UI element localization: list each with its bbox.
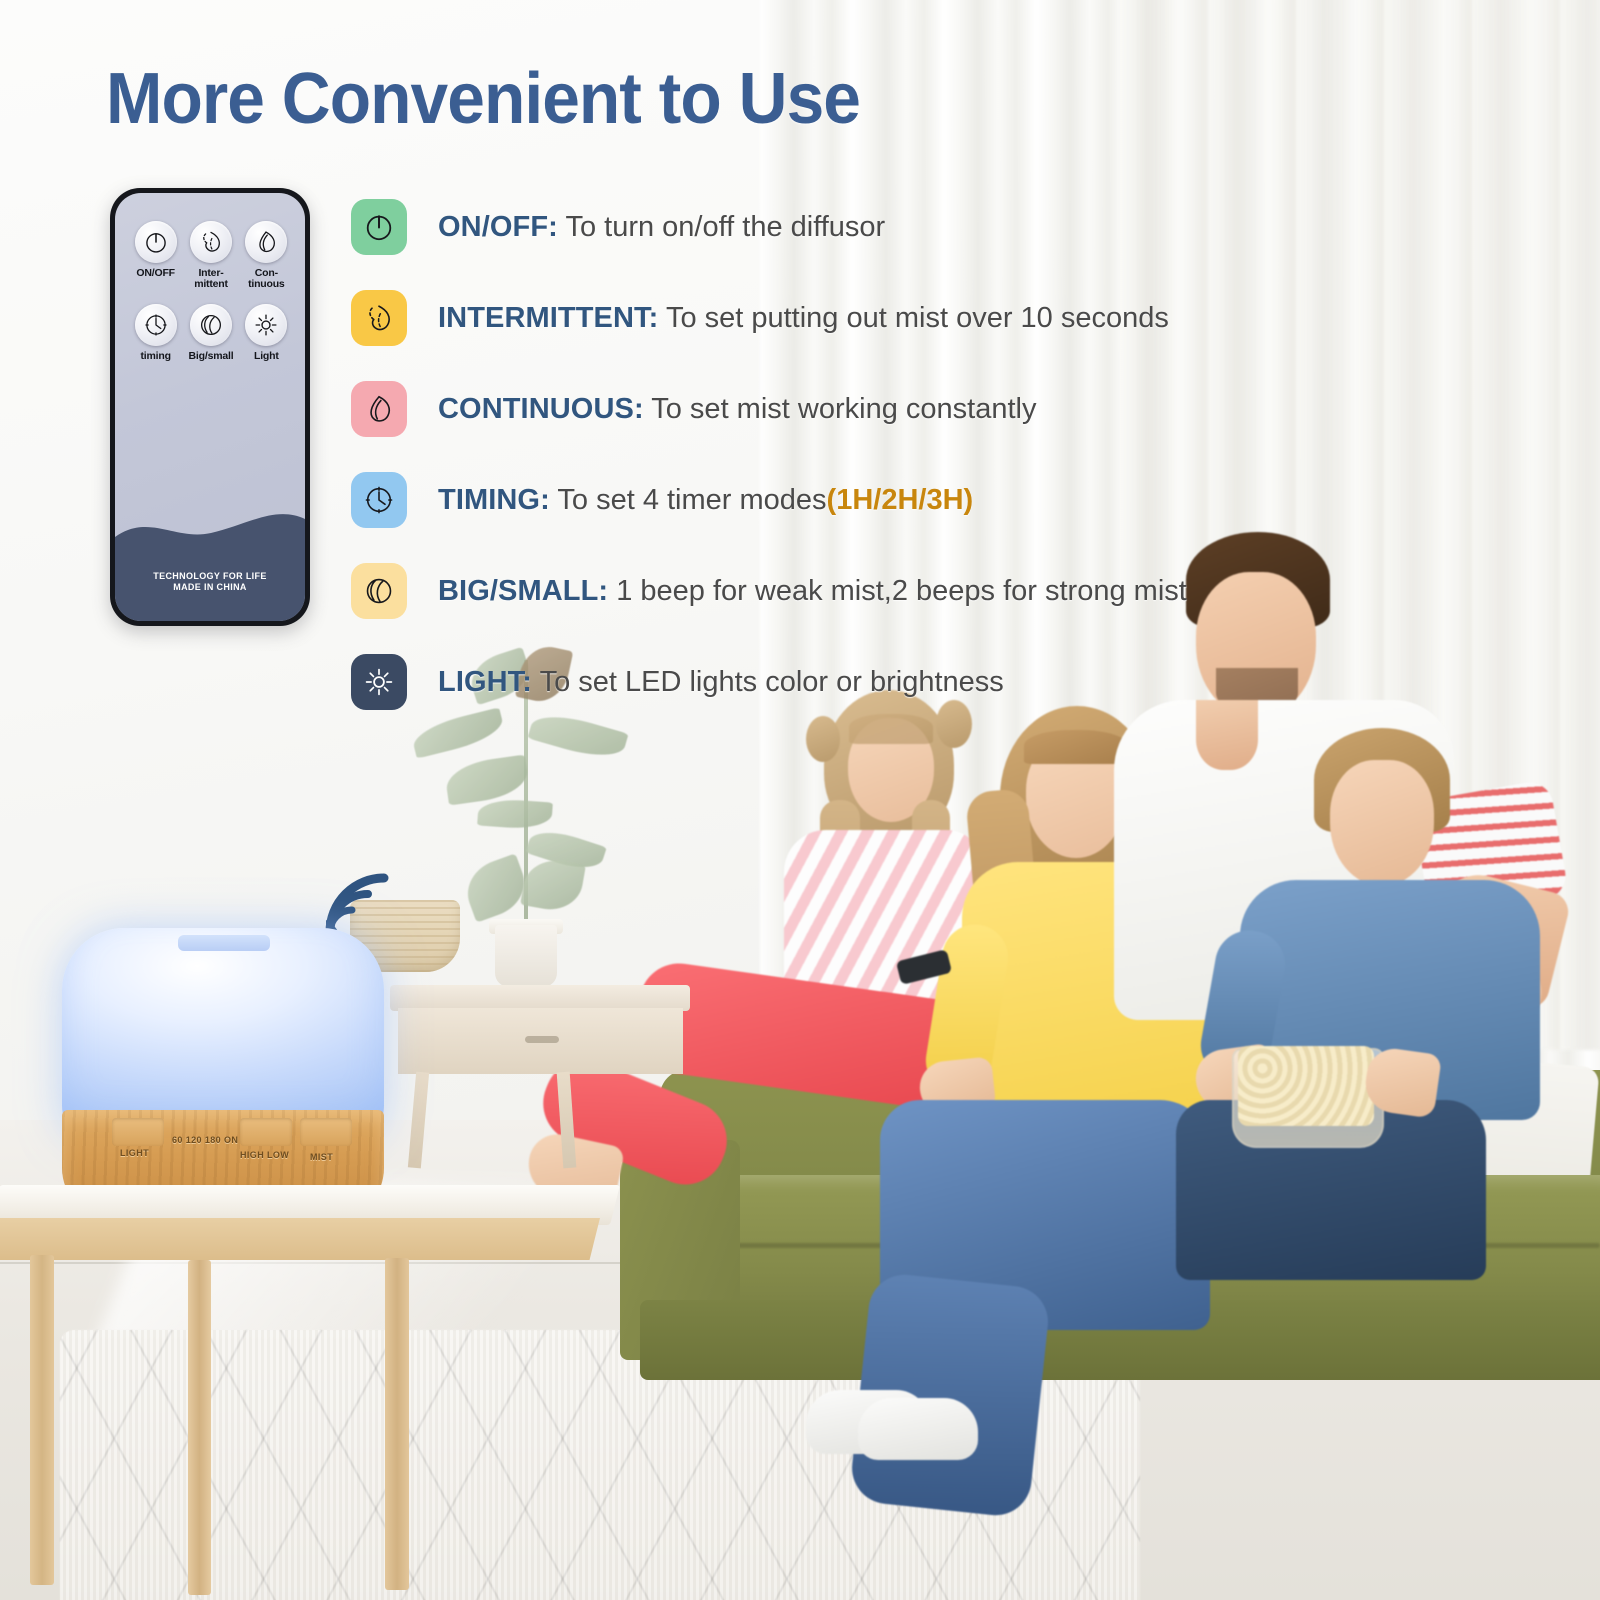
wifi-signal-icon bbox=[312, 862, 392, 938]
remote-button-bigsmall[interactable]: Big/small bbox=[184, 304, 237, 362]
side-table-apron bbox=[0, 1218, 600, 1260]
feature-desc: To set LED lights color or brightness bbox=[540, 666, 1004, 698]
power-icon bbox=[135, 221, 177, 263]
feature-list: ON/OFF: To turn on/off the diffusor INTE… bbox=[351, 196, 1561, 742]
remote-button-label: ON/OFF bbox=[136, 268, 174, 279]
diffuser-label-timer: 60 120 180 ON bbox=[172, 1135, 238, 1145]
double-leaf-icon bbox=[190, 304, 232, 346]
remote-button-timing[interactable]: timing bbox=[129, 304, 182, 362]
remote-button-label: Big/small bbox=[189, 351, 234, 362]
remote-button-onoff[interactable]: ON/OFF bbox=[129, 221, 182, 290]
plant-pot bbox=[495, 925, 557, 987]
feature-key: LIGHT: bbox=[438, 666, 532, 698]
power-icon bbox=[351, 199, 407, 255]
side-table-leg bbox=[188, 1260, 211, 1595]
feature-key: CONTINUOUS: bbox=[438, 393, 644, 425]
console-drawer-handle bbox=[525, 1036, 559, 1043]
intermittent-mist-icon bbox=[351, 290, 407, 346]
diffuser-dome bbox=[62, 928, 384, 1140]
remote-button-light[interactable]: Light bbox=[240, 304, 293, 362]
feature-row-timing: TIMING: To set 4 timer modes(1H/2H/3H) bbox=[351, 469, 1561, 531]
diffuser-light-button[interactable] bbox=[112, 1118, 164, 1146]
feature-row-intermittent: INTERMITTENT: To set putting out mist ov… bbox=[351, 287, 1561, 349]
sun-icon bbox=[245, 304, 287, 346]
feature-key: TIMING: bbox=[438, 484, 550, 516]
feature-desc: To set 4 timer modes bbox=[557, 484, 826, 516]
feature-desc: To turn on/off the diffusor bbox=[565, 211, 885, 243]
diffuser-label-mist-power: HIGH LOW bbox=[240, 1150, 289, 1160]
remote-brand-line-2: MADE IN CHINA bbox=[173, 582, 247, 592]
remote-footer-wave bbox=[115, 503, 305, 621]
feature-row-continuous: CONTINUOUS: To set mist working constant… bbox=[351, 378, 1561, 440]
feature-text: CONTINUOUS: To set mist working constant… bbox=[438, 393, 1036, 426]
remote-label-text: ON/OFF bbox=[136, 267, 174, 279]
feature-text: INTERMITTENT: To set putting out mist ov… bbox=[438, 302, 1169, 335]
feature-row-onoff: ON/OFF: To turn on/off the diffusor bbox=[351, 196, 1561, 258]
remote-button-label: timing bbox=[141, 351, 171, 362]
side-table-leg bbox=[385, 1258, 409, 1590]
diffuser-top-vent bbox=[178, 935, 270, 951]
continuous-mist-icon bbox=[245, 221, 287, 263]
feature-desc: To set putting out mist over 10 seconds bbox=[666, 302, 1169, 334]
feature-text: BIG/SMALL: 1 beep for weak mist,2 beeps … bbox=[438, 575, 1187, 608]
feature-desc: 1 beep for weak mist,2 beeps for strong … bbox=[616, 575, 1187, 607]
clock-icon bbox=[351, 472, 407, 528]
remote-brand-text: TECHNOLOGY FOR LIFE MADE IN CHINA bbox=[115, 571, 305, 594]
remote-button-label: Light bbox=[254, 351, 279, 362]
feature-text: TIMING: To set 4 timer modes(1H/2H/3H) bbox=[438, 484, 973, 517]
feature-text: LIGHT: To set LED lights color or bright… bbox=[438, 666, 1004, 699]
remote-brand-line-1: TECHNOLOGY FOR LIFE bbox=[153, 571, 267, 581]
side-table-leg bbox=[30, 1255, 54, 1585]
double-leaf-icon bbox=[351, 563, 407, 619]
remote-face: ON/OFF Inter- mittent bbox=[115, 193, 305, 621]
feature-key: BIG/SMALL: bbox=[438, 575, 608, 607]
intermittent-mist-icon bbox=[190, 221, 232, 263]
remote-label-text: timing bbox=[141, 350, 171, 362]
remote-button-grid: ON/OFF Inter- mittent bbox=[129, 221, 293, 362]
remote-label-text: Big/small bbox=[189, 350, 234, 362]
remote-label-text: Light bbox=[254, 350, 279, 362]
diffuser-label-light: LIGHT bbox=[120, 1148, 149, 1158]
sun-icon bbox=[351, 654, 407, 710]
feature-row-light: LIGHT: To set LED lights color or bright… bbox=[351, 651, 1561, 713]
diffuser-mist-button[interactable] bbox=[300, 1118, 352, 1146]
feature-key: INTERMITTENT: bbox=[438, 302, 658, 334]
feature-row-bigsmall: BIG/SMALL: 1 beep for weak mist,2 beeps … bbox=[351, 560, 1561, 622]
diffuser-label-mist: MIST bbox=[310, 1152, 333, 1162]
remote-label-text: mittent bbox=[194, 278, 228, 290]
infographic-canvas: LIGHT 60 120 180 ON HIGH LOW MIST More C… bbox=[0, 0, 1600, 1600]
remote-button-continuous[interactable]: Con- tinuous bbox=[240, 221, 293, 290]
feature-key: ON/OFF: bbox=[438, 211, 558, 243]
remote-label-text: tinuous bbox=[248, 278, 285, 290]
remote-button-intermittent[interactable]: Inter- mittent bbox=[184, 221, 237, 290]
diffuser-mist-power-button[interactable] bbox=[240, 1118, 292, 1146]
remote-control: ON/OFF Inter- mittent bbox=[110, 188, 310, 626]
remote-button-label: Inter- mittent bbox=[194, 268, 228, 290]
continuous-mist-icon bbox=[351, 381, 407, 437]
feature-text: ON/OFF: To turn on/off the diffusor bbox=[438, 211, 885, 244]
clock-icon bbox=[135, 304, 177, 346]
remote-button-label: Con- tinuous bbox=[248, 268, 285, 290]
feature-highlight: (1H/2H/3H) bbox=[827, 484, 974, 516]
feature-desc: To set mist working constantly bbox=[651, 393, 1036, 425]
page-title: More Convenient to Use bbox=[106, 63, 860, 135]
